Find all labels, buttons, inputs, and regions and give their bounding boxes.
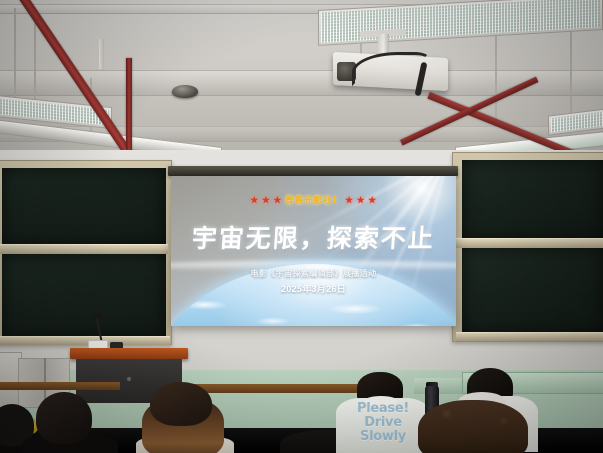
chalk-rail <box>456 238 603 248</box>
microphone-head-icon <box>94 313 103 318</box>
smoke-detector-icon <box>172 85 198 98</box>
audience-member-head <box>36 392 92 444</box>
audience-member-head <box>150 382 212 426</box>
podium-desktop <box>70 348 188 359</box>
club-name-text: 青春光影社！ <box>285 194 342 206</box>
classroom-photo: ★ ★ ★ 青春光影社！ ★ ★ ★ 宇宙无限，探索不止 电影《宇宙探索编辑部》… <box>0 0 603 453</box>
tshirt-printed-text: Please! Drive Slowly <box>340 402 426 444</box>
light-hanger <box>495 30 497 120</box>
slide-banner: ★ ★ ★ 青春光影社！ ★ ★ ★ <box>250 194 376 206</box>
chalkboard-left-lower <box>2 254 166 338</box>
screen-valance <box>168 166 458 176</box>
podium-knob <box>127 377 131 381</box>
fluorescent-light-fixture <box>318 0 603 46</box>
tshirt-text-line-1: Please! <box>340 402 426 416</box>
star-icon: ★ ★ ★ <box>345 195 377 206</box>
desk-edge <box>0 382 120 390</box>
light-hanger <box>34 16 36 108</box>
detector-stem <box>99 39 104 69</box>
light-hanger <box>570 26 572 116</box>
chalk-rail <box>0 244 168 254</box>
star-icon: ★ ★ ★ <box>250 195 282 206</box>
slide-date: 2025年3月26日 <box>281 282 346 295</box>
light-hanger <box>14 8 16 104</box>
slide-content: ★ ★ ★ 青春光影社！ ★ ★ ★ 宇宙无限，探索不止 电影《宇宙探索编辑部》… <box>171 176 456 326</box>
ceiling <box>0 0 603 168</box>
tshirt-text-line-3: Slowly <box>340 430 426 444</box>
chalk-rail <box>456 332 603 341</box>
chalkboard-right-lower <box>462 248 603 334</box>
chalkboard-right-upper <box>462 160 603 240</box>
chalkboard-left-upper <box>2 168 166 246</box>
projection-screen: ★ ★ ★ 青春光影社！ ★ ★ ★ 宇宙无限，探索不止 电影《宇宙探索编辑部》… <box>171 176 456 326</box>
green-counter <box>414 378 464 394</box>
slide-subtitle: 电影《宇宙探索编辑部》展播活动 <box>251 268 377 279</box>
audience-member-curly-hair <box>418 400 528 453</box>
slide-title: 宇宙无限，探索不止 <box>191 219 437 255</box>
tshirt-text-line-2: Drive <box>340 416 426 430</box>
chalk-rail <box>0 336 170 345</box>
